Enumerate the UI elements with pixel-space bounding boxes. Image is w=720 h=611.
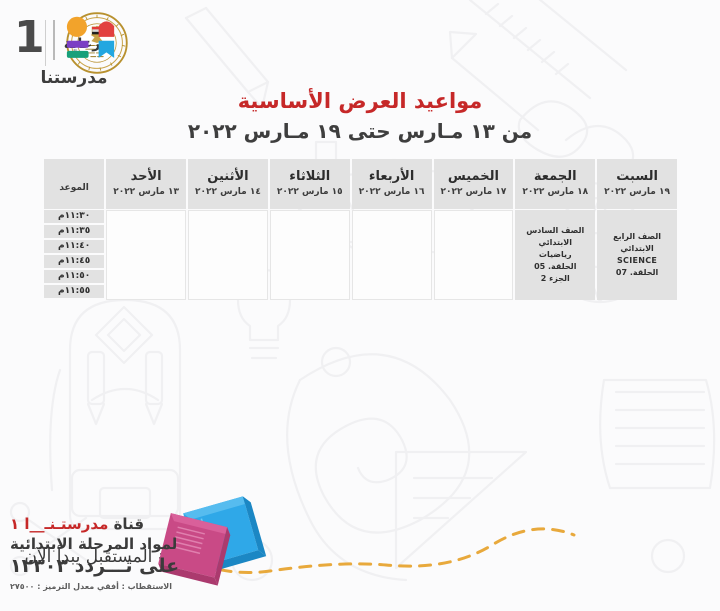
schedule-cell[interactable]: الصف الرابع الابتدائيSCIENCEالحلقة. 07 bbox=[597, 210, 677, 300]
programme-line: SCIENCE bbox=[600, 255, 674, 267]
day-header: الأربعاء ١٦ مارس ٢٠٢٢ bbox=[352, 159, 432, 209]
time-slot: ١١:٤٠م bbox=[44, 240, 104, 253]
programme-line: الجزء 2 bbox=[518, 273, 592, 285]
channel-footer-line2: لمواد المرحلة الابتدائية bbox=[10, 534, 190, 554]
programme-line: رياضيات bbox=[518, 249, 592, 261]
date-range-subtitle: من ١٣ مـارس حتى ١٩ مـارس ٢٠٢٢ bbox=[0, 118, 720, 144]
channel-name-label: مدرستنا bbox=[8, 68, 140, 88]
table-header-row: السبت ١٩ مارس ٢٠٢٢ الجمعة ١٨ مارس ٢٠٢٢ ا… bbox=[44, 159, 677, 209]
schedule-cell[interactable] bbox=[270, 210, 350, 300]
time-slot-column: ١١:٣٠م١١:٣٥م١١:٤٠م١١:٤٥م١١:٥٠م١١:٥٥م bbox=[44, 210, 104, 300]
time-slot: ١١:٥٠م bbox=[44, 270, 104, 283]
schedule-cell[interactable] bbox=[188, 210, 268, 300]
table-body-row: الصف الرابع الابتدائيSCIENCEالحلقة. 07 ا… bbox=[44, 210, 677, 300]
title-block: مواعيد العرض الأساسية من ١٣ مـارس حتى ١٩… bbox=[0, 88, 720, 144]
programme-line: الصف الرابع الابتدائي bbox=[600, 231, 674, 255]
day-header: الأحد ١٣ مارس ٢٠٢٢ bbox=[106, 159, 186, 209]
time-slot: ١١:٣٠م bbox=[44, 210, 104, 223]
channel-footer-prefix: قناة bbox=[108, 515, 144, 533]
broadcast-schedule-table: السبت ١٩ مارس ٢٠٢٢ الجمعة ١٨ مارس ٢٠٢٢ ا… bbox=[42, 158, 679, 301]
day-header: الجمعة ١٨ مارس ٢٠٢٢ bbox=[515, 159, 595, 209]
schedule-cell[interactable] bbox=[434, 210, 514, 300]
madrasatna-logo-mark-icon bbox=[63, 16, 125, 59]
day-header: السبت ١٩ مارس ٢٠٢٢ bbox=[597, 159, 677, 209]
channel-frequency: على تـــردد ١٢٣٠٣ bbox=[10, 554, 190, 578]
channel-frequency-info: قناة مدرستـنـ__ا ١ لمواد المرحلة الابتدا… bbox=[10, 514, 190, 593]
day-header: الخميس ١٧ مارس ٢٠٢٢ bbox=[434, 159, 514, 209]
page-title: مواعيد العرض الأساسية bbox=[0, 88, 720, 114]
time-slot: ١١:٤٥م bbox=[44, 255, 104, 268]
day-header: الأثنين ١٤ مارس ٢٠٢٢ bbox=[188, 159, 268, 209]
channel-footer-line1: قناة مدرستـنـ__ا ١ bbox=[10, 514, 190, 534]
header-bar: برعاية 1 مدرستنا bbox=[0, 0, 720, 86]
time-slot: ١١:٥٥م bbox=[44, 285, 104, 298]
day-header: الثلاثاء ١٥ مارس ٢٠٢٢ bbox=[270, 159, 350, 209]
schedule-cell[interactable] bbox=[352, 210, 432, 300]
programme-line: الحلقة. 05 bbox=[518, 261, 592, 273]
brand-divider bbox=[53, 20, 55, 60]
programme-line: الحلقة. 07 bbox=[600, 267, 674, 279]
schedule-cell[interactable]: الصف السادس الابتدائيرياضياتالحلقة. 05ال… bbox=[515, 210, 595, 300]
time-column-header: الموعد bbox=[44, 159, 104, 209]
time-slot: ١١:٣٥م bbox=[44, 225, 104, 238]
schedule-cell[interactable] bbox=[106, 210, 186, 300]
channel-brand-logo: 1 مدرستنا bbox=[8, 16, 140, 86]
channel-number-label: 1 bbox=[14, 16, 45, 60]
programme-line: الصف السادس الابتدائي bbox=[518, 225, 592, 249]
channel-technical-details: الاستقطاب : أفقي معدل الترميز : ٢٧٥٠٠ bbox=[10, 580, 190, 593]
channel-footer-brand: مدرستـنـ__ا ١ bbox=[10, 515, 108, 533]
